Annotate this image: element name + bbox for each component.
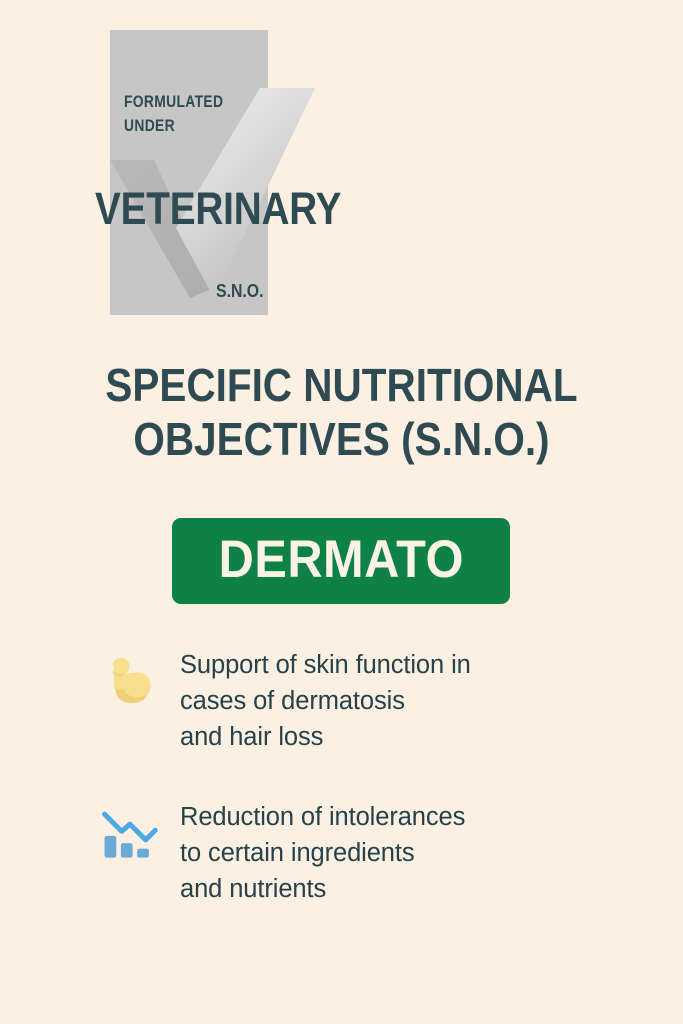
page-title-line-2: OBJECTIVES (S.N.O.): [41, 412, 642, 466]
page-title: SPECIFIC NUTRITIONAL OBJECTIVES (S.N.O.): [0, 358, 683, 467]
veterinary-logo: FORMULATED UNDER VETERINARY S.N.O.: [0, 0, 683, 330]
logo-tagline: FORMULATED UNDER: [124, 90, 250, 139]
list-item-line: Reduction of intolerances: [180, 800, 465, 836]
list-item-text: Support of skin function in cases of der…: [180, 648, 471, 756]
list-item: Support of skin function in cases of der…: [0, 648, 683, 756]
logo-tagline-line-2: UNDER: [124, 114, 250, 138]
logo-abbrev: S.N.O.: [216, 282, 264, 300]
list-item-line: and nutrients: [180, 872, 465, 908]
list-item: Reduction of intolerances to certain ing…: [0, 800, 683, 908]
logo-tagline-line-1: FORMULATED: [124, 90, 250, 114]
list-item-line: Support of skin function in: [180, 648, 471, 684]
page-title-line-1: SPECIFIC NUTRITIONAL: [41, 358, 642, 412]
dermato-badge: DERMATO: [172, 518, 510, 604]
benefits-list: Support of skin function in cases of der…: [0, 648, 683, 952]
logo-brand-word: VETERINARY: [95, 186, 341, 231]
flexed-biceps-icon: [100, 654, 158, 712]
list-item-line: to certain ingredients: [180, 836, 465, 872]
list-item-line: and hair loss: [180, 720, 471, 756]
chart-decreasing-icon: [100, 806, 158, 864]
list-item-text: Reduction of intolerances to certain ing…: [180, 800, 465, 908]
dermato-badge-label: DERMATO: [218, 533, 463, 590]
poster-canvas: FORMULATED UNDER VETERINARY S.N.O. SPECI…: [0, 0, 683, 1024]
list-item-line: cases of dermatosis: [180, 684, 471, 720]
